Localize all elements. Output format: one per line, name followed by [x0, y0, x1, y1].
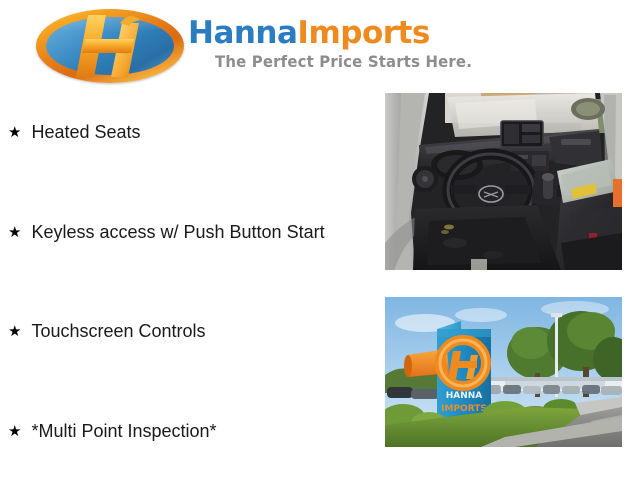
feature-label: Touchscreen Controls: [31, 321, 205, 341]
feature-label: Keyless access w/ Push Button Start: [31, 222, 324, 242]
logo-h-letter-icon: [36, 9, 184, 83]
star-bullet-icon: ★: [8, 225, 21, 240]
list-item: ★ *Multi Point Inspection*: [8, 416, 217, 446]
star-bullet-icon: ★: [8, 424, 21, 439]
dealership-sign-photo[interactable]: 310 HANNA IMPORTS: [385, 297, 622, 447]
star-bullet-icon: ★: [8, 324, 21, 339]
svg-text:IMPORTS: IMPORTS: [441, 404, 487, 414]
brand-tagline: The Perfect Price Starts Here.: [215, 52, 472, 71]
feature-label: Heated Seats: [31, 122, 140, 142]
brand-wordmark-hanna: Hanna: [188, 15, 297, 51]
hanna-oval-h-logo-icon: [36, 9, 184, 83]
car-interior-photo[interactable]: [385, 93, 622, 270]
brand-wordmark-imports: Imports: [297, 15, 429, 51]
dealership-illustration: 310 HANNA IMPORTS: [385, 297, 622, 447]
vehicle-feature-list: ★ Heated Seats ★ Keyless access w/ Push …: [0, 92, 380, 480]
car-interior-illustration: [385, 93, 622, 270]
star-bullet-icon: ★: [8, 125, 21, 140]
list-item: ★ Touchscreen Controls: [8, 316, 206, 346]
feature-label: *Multi Point Inspection*: [31, 421, 216, 441]
brand-wordmark: HannaImports: [188, 16, 430, 50]
list-item: ★ Keyless access w/ Push Button Start: [8, 217, 325, 247]
svg-text:HANNA: HANNA: [446, 391, 483, 401]
list-item: ★ Heated Seats: [8, 117, 141, 147]
brand-header: HannaImports The Perfect Price Starts He…: [0, 0, 640, 92]
